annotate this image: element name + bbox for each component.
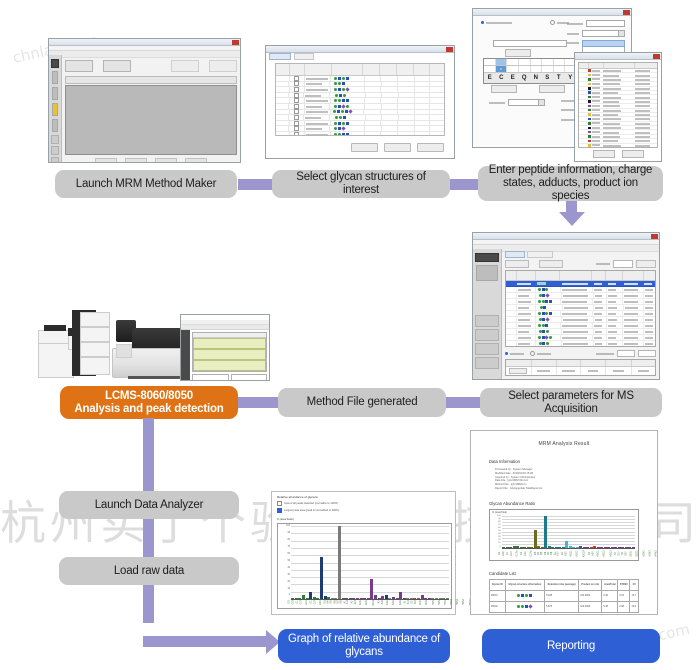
ok-button[interactable] [384, 143, 411, 152]
delete-button[interactable] [491, 85, 517, 93]
nav-icon[interactable] [52, 87, 58, 100]
report-info-rows: Processed by : System Manager Modified d… [495, 468, 639, 491]
connector-lcms-down [143, 418, 154, 623]
chromatogram-panel[interactable] [192, 332, 267, 372]
chart-options: Relative abundance of glycans Area of al… [277, 495, 450, 513]
step-launch-analyzer[interactable]: Launch Data Analyzer [59, 491, 239, 519]
cell-product-ion: 100.0000 [579, 590, 602, 601]
report-chart[interactable]: % (area/Total) 100 90 80 70 60 50 40 30 … [489, 509, 639, 561]
peptide-sequence-grid[interactable]: C E C E Q N S T Y [483, 58, 577, 84]
nav-icon[interactable] [52, 71, 58, 84]
column-header: Glycan ID [490, 579, 506, 590]
report-section-candidate-list: Candidate List [489, 571, 639, 576]
cell-glycan-structure [505, 590, 545, 601]
x-axis-labels: G0G0FG1G1FG1FaG2G2FG2FaM3M4M5M6M7M8A1A1F… [291, 597, 449, 607]
table-row[interactable] [506, 341, 655, 346]
lcms-description: Analysis and peak detection [74, 403, 223, 416]
window-body [49, 55, 240, 162]
ion-type-select[interactable] [508, 99, 545, 106]
cell-area-total: 5.48 [602, 601, 618, 612]
dialog-buttons[interactable] [575, 150, 661, 158]
cancel-button[interactable] [417, 143, 444, 152]
table-header [65, 76, 237, 84]
lc-module-dark [44, 325, 66, 331]
nav-button[interactable] [475, 315, 499, 327]
info-row: Report File : Glycopeptide TotalReport.l… [495, 487, 639, 491]
sequence-input[interactable] [493, 40, 567, 47]
nav-button[interactable] [475, 357, 499, 369]
tabstrip[interactable] [505, 251, 656, 258]
titlebar [575, 53, 661, 60]
lc-tray [80, 327, 110, 342]
spectrum-panel[interactable] [192, 374, 229, 381]
screenshot-product-ion-list[interactable] [574, 52, 662, 162]
report-section-abundance-ratio: Glycan Abundance Ratio [489, 501, 639, 506]
report-chart-axis-label: % (area/Total) [492, 511, 507, 514]
step-launch-method-maker[interactable]: Launch MRM Method Maker [55, 170, 237, 198]
cell-product-ion: 100.0000 [579, 601, 602, 612]
data-monitor[interactable] [180, 314, 270, 381]
cell-area-total: 0.46 [602, 590, 618, 601]
aa-letter: T [553, 73, 565, 83]
step-label: Load raw data [114, 565, 184, 578]
save-button[interactable] [539, 260, 563, 268]
tab-mrm-transition[interactable] [527, 251, 553, 258]
lcms-model: LCMS-8060/8050 [105, 390, 193, 403]
step-label: Select glycan structures of interest [278, 171, 444, 197]
update-button[interactable] [636, 260, 656, 268]
chromatogram-row [193, 360, 266, 371]
param-field[interactable] [586, 380, 610, 381]
report-x-axis-labels: G0G0FG1G1FG1FaG2G2FG2FaM3M4M5M6M7M8A1A1F… [502, 548, 635, 559]
report-title: MRM Analysis Result [471, 441, 657, 447]
titlebar [473, 9, 631, 16]
step-lcms-analysis[interactable]: LCMS-8060/8050 Analysis and peak detecti… [60, 386, 238, 419]
titlebar [473, 233, 659, 240]
chart-plot-area[interactable]: 100 90 80 70 60 50 40 30 20 10 0 [277, 523, 452, 609]
output-label: Reporting [547, 640, 595, 653]
transition-table[interactable] [505, 270, 656, 347]
step-enter-peptide[interactable]: Enter peptide information, charge states… [478, 166, 663, 201]
nav-button[interactable] [475, 253, 499, 262]
instrument-photo [32, 300, 268, 380]
column-header: CV [630, 579, 639, 590]
step-select-params[interactable]: Select parameters for MS Acquisition [480, 388, 662, 417]
dialog-buttons[interactable] [351, 143, 444, 152]
column-header: Glycan structure information [505, 579, 545, 590]
nav-button[interactable] [51, 135, 59, 144]
radio-peptide-sequence[interactable] [481, 21, 484, 24]
nav-icon[interactable] [52, 119, 58, 132]
cell-cv: 10.7 [630, 590, 639, 601]
ion-type-row[interactable] [489, 99, 545, 106]
cell-retention-time: 5.468 [545, 590, 579, 601]
close-icon[interactable] [232, 40, 239, 45]
aa-letter: N [530, 73, 542, 83]
aa-letter: E [507, 73, 519, 83]
screenshot-method-maker[interactable] [48, 38, 241, 163]
column-header: Product ion m/z [579, 579, 602, 590]
footer-button[interactable] [155, 158, 177, 163]
table-row[interactable] [506, 367, 655, 375]
chart-axis-label: % (area basis) [277, 518, 294, 521]
step-label: Method File generated [307, 396, 418, 409]
mode-radios[interactable] [481, 20, 569, 25]
chromatogram-row [193, 338, 266, 349]
toolbar-button[interactable] [65, 60, 93, 72]
glycan-rows [276, 76, 444, 136]
search-button[interactable] [351, 143, 378, 152]
x-tick-label: H4N3 [654, 550, 658, 556]
sample-name-field[interactable] [586, 20, 625, 27]
time-field[interactable] [638, 350, 656, 357]
transition-rows [506, 287, 655, 346]
cell-stdev: 0.03 [618, 590, 630, 601]
aa-letter: Q [519, 73, 531, 83]
step-load-raw-data[interactable]: Load raw data [59, 557, 239, 585]
column-header: Retention time (average) [545, 579, 579, 590]
bar [338, 526, 341, 599]
step-label: Launch Data Analyzer [95, 499, 204, 512]
adduct-select[interactable] [582, 30, 625, 37]
column-header: STDEV [618, 579, 630, 590]
tab-general[interactable] [269, 53, 291, 60]
radio-negative[interactable] [530, 351, 535, 356]
nav-button[interactable] [475, 329, 499, 341]
footer-button[interactable] [125, 158, 147, 163]
y-axis: 100 90 80 70 60 50 40 30 20 10 0 [278, 524, 291, 608]
footer-button[interactable] [95, 158, 117, 163]
checkbox-label: Largest peak area (peak is normalized to… [284, 509, 339, 512]
bar [534, 530, 537, 547]
left-nav[interactable] [49, 55, 62, 162]
checkbox-label: Area of all peaks detected (normalize to… [284, 502, 338, 505]
cell-cv: 16.0 [630, 601, 639, 612]
tab-method[interactable] [505, 251, 525, 258]
ok-button[interactable] [593, 150, 615, 158]
table-header-row: Glycan ID Glycan structure information R… [490, 579, 639, 590]
nav-button[interactable] [51, 59, 59, 68]
count-field[interactable] [613, 260, 633, 268]
step-select-glycan[interactable]: Select glycan structures of interest [272, 170, 450, 198]
close-icon[interactable] [446, 47, 453, 52]
lc-tray [80, 312, 110, 327]
step-method-file[interactable]: Method File generated [278, 388, 446, 417]
output-graph-abundance[interactable]: Graph of relative abundance of glycans [278, 629, 450, 663]
nav-icon-highlight[interactable] [52, 103, 58, 116]
candidate-list-table[interactable]: Glycan ID Glycan structure information R… [489, 579, 639, 613]
cell-glycan-structure [505, 601, 545, 612]
bar [544, 516, 547, 548]
report-page[interactable]: MRM Analysis Result Data Information Pro… [470, 430, 658, 615]
step-label: Enter peptide information, charge states… [484, 164, 657, 203]
close-icon[interactable] [653, 54, 660, 59]
work-area [62, 55, 240, 162]
parameter-table[interactable] [505, 359, 656, 376]
cell-stdev: 0.08 [618, 601, 630, 612]
titlebar [266, 46, 454, 53]
radio-mass[interactable] [550, 20, 555, 25]
open-button[interactable] [505, 260, 529, 268]
cancel-button[interactable] [622, 150, 644, 158]
report-plot-canvas [502, 516, 635, 548]
table-row[interactable] [276, 132, 444, 136]
step-label: Launch MRM Method Maker [76, 178, 217, 191]
ms-panel [116, 344, 132, 358]
radio-positive[interactable] [505, 352, 508, 355]
workflow-diagram: chnlab.com chem.com [0, 0, 700, 670]
plot-canvas [291, 526, 449, 599]
screenshot-ms-acquisition[interactable] [472, 232, 660, 380]
table-empty-area[interactable] [65, 85, 237, 155]
tab-detail[interactable] [294, 53, 314, 60]
bar-series [291, 526, 449, 599]
step-label: Select parameters for MS Acquisition [486, 390, 656, 416]
column-header: Area/Total [602, 579, 618, 590]
cell-retention-time: 5.875 [545, 601, 579, 612]
toolbar-button[interactable] [171, 60, 199, 72]
titlebar [49, 39, 240, 46]
spectrum-panel[interactable] [231, 374, 268, 381]
footer-button[interactable] [185, 158, 207, 163]
close-icon[interactable] [623, 10, 630, 15]
abundance-chart-panel[interactable]: Relative abundance of glycans Area of al… [271, 491, 456, 615]
report-bar-series [502, 516, 635, 548]
add-button[interactable] [539, 85, 565, 93]
arrow-down-icon [559, 212, 585, 226]
output-reporting[interactable]: Reporting [482, 629, 660, 663]
report-y-axis: 100 90 80 70 60 50 40 30 20 10 0 [492, 515, 501, 547]
glycan-table[interactable] [275, 63, 445, 136]
advanced-button[interactable] [620, 379, 656, 380]
nav-rail[interactable] [181, 330, 190, 381]
cell-glycan-id: #0001 [490, 590, 506, 601]
window-body [473, 249, 659, 379]
sequence-letters: E C E Q N S T Y [484, 73, 576, 83]
ms-foot [128, 376, 184, 379]
close-icon[interactable] [651, 234, 658, 239]
screenshot-glycan-select[interactable] [265, 45, 455, 159]
ion-rows [579, 69, 657, 148]
nav-icon[interactable] [476, 265, 498, 281]
toolbar-button[interactable] [209, 60, 237, 72]
lc-tray [80, 357, 110, 375]
nav-button[interactable] [475, 343, 499, 355]
left-nav[interactable] [473, 249, 502, 379]
output-label: Graph of relative abundance of glycans [284, 633, 444, 659]
bar [320, 557, 323, 599]
aa-letter: C [496, 73, 508, 83]
toolbar-button[interactable] [103, 60, 131, 72]
report-section-data-information: Data Information [489, 459, 639, 464]
product-ion-table[interactable] [578, 62, 658, 148]
nav-button[interactable] [51, 157, 59, 163]
aa-letter: E [484, 73, 496, 83]
time-field[interactable] [617, 350, 635, 357]
connector-bottom-horizontal [143, 636, 268, 647]
table-row[interactable]: #0001 5.468 100.0000 0.46 0.03 10.7 [490, 590, 639, 601]
cell-glycan-id: #0002 [490, 601, 506, 612]
chart-title: Relative abundance of glycans [277, 495, 450, 499]
set-button[interactable] [505, 49, 531, 57]
chromatogram-row [193, 349, 266, 360]
aa-letter: S [542, 73, 554, 83]
lc-tray [80, 342, 110, 357]
checkbox-normalize-all[interactable] [277, 501, 282, 506]
table-row[interactable]: #0002 5.875 100.0000 5.48 0.08 16.0 [490, 601, 639, 612]
connector-methodfile-params [440, 397, 485, 408]
tabstrip[interactable] [269, 53, 314, 60]
nav-button[interactable] [51, 146, 59, 155]
polarity-radios[interactable] [505, 350, 656, 357]
work-area [502, 249, 659, 379]
checkbox-normalize-largest[interactable] [277, 508, 282, 513]
